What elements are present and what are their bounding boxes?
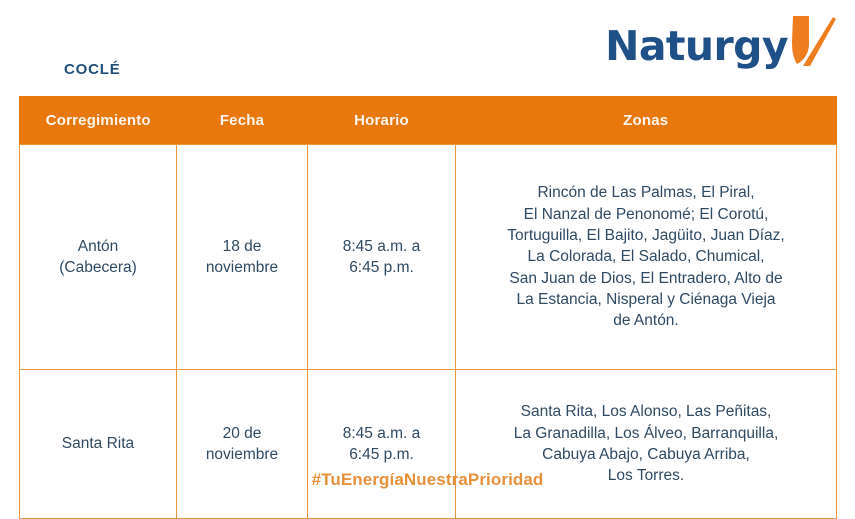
- zonas-value: Rincón de Las Palmas, El Piral, El Nanza…: [464, 182, 828, 332]
- table-header-row: Corregimiento Fecha Horario Zonas: [20, 97, 837, 145]
- naturgy-logo-text: Naturgy: [605, 26, 788, 67]
- horario-value: 8:45 a.m. a 6:45 p.m.: [316, 423, 447, 466]
- region-title: COCLÉ: [64, 61, 121, 78]
- campaign-hashtag: #TuEnergíaNuestraPrioridad: [0, 470, 855, 490]
- horario-value: 8:45 a.m. a 6:45 p.m.: [316, 236, 447, 279]
- column-header-zonas: Zonas: [456, 97, 837, 145]
- naturgy-flame-mark-icon: [789, 14, 837, 77]
- table-row: Santa Rita 20 de noviembre 8:45 a.m. a 6…: [20, 370, 837, 519]
- cell-fecha: 18 de noviembre: [177, 145, 308, 370]
- cell-zonas: Santa Rita, Los Alonso, Las Peñitas, La …: [456, 370, 837, 519]
- cell-zonas: Rincón de Las Palmas, El Piral, El Nanza…: [456, 145, 837, 370]
- corregimiento-value: Antón (Cabecera): [28, 236, 168, 279]
- cell-horario: 8:45 a.m. a 6:45 p.m.: [308, 370, 456, 519]
- cell-horario: 8:45 a.m. a 6:45 p.m.: [308, 145, 456, 370]
- fecha-value: 18 de noviembre: [185, 236, 299, 279]
- page-header: Naturgy COCLÉ: [0, 0, 855, 94]
- table-body: Antón (Cabecera) 18 de noviembre 8:45 a.…: [20, 145, 837, 519]
- naturgy-logo: Naturgy: [605, 14, 837, 77]
- cell-fecha: 20 de noviembre: [177, 370, 308, 519]
- table-row: Antón (Cabecera) 18 de noviembre 8:45 a.…: [20, 145, 837, 370]
- fecha-value: 20 de noviembre: [185, 423, 299, 466]
- cell-corregimiento: Antón (Cabecera): [20, 145, 177, 370]
- cell-corregimiento: Santa Rita: [20, 370, 177, 519]
- column-header-fecha: Fecha: [177, 97, 308, 145]
- table-header: Corregimiento Fecha Horario Zonas: [20, 97, 837, 145]
- outage-schedule-table: Corregimiento Fecha Horario Zonas Antón …: [19, 96, 837, 519]
- column-header-corregimiento: Corregimiento: [20, 97, 177, 145]
- column-header-horario: Horario: [308, 97, 456, 145]
- corregimiento-value: Santa Rita: [28, 433, 168, 454]
